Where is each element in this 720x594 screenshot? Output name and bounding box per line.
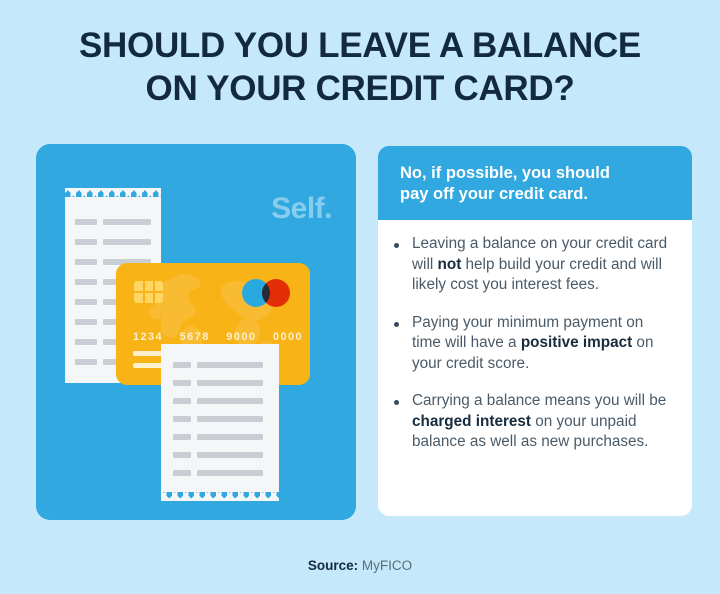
- card-number-group: 0000: [273, 331, 303, 343]
- list-item-text: Leaving a balance on your credit card wi…: [412, 234, 674, 296]
- list-item: Leaving a balance on your credit card wi…: [394, 234, 674, 296]
- self-brand-name: Self.: [271, 192, 332, 225]
- bullet-dot-icon: [394, 313, 412, 375]
- card-chip-icon: [134, 281, 163, 303]
- two-circles-network-logo-icon: [242, 279, 294, 307]
- answer-bullet-list: Leaving a balance on your credit card wi…: [378, 220, 692, 516]
- bullet-dot-icon: [394, 391, 412, 453]
- card-number-group: 9000: [226, 331, 256, 343]
- card-number-group: 1234: [133, 331, 163, 343]
- answer-heading: No, if possible, you should pay off your…: [378, 146, 692, 220]
- bullet-dot-icon: [394, 234, 412, 296]
- list-item: Paying your minimum payment on time will…: [394, 313, 674, 375]
- list-item: Carrying a balance means you will be cha…: [394, 391, 674, 453]
- answer-panel: No, if possible, you should pay off your…: [378, 146, 692, 520]
- receipt-icon-front: [161, 344, 279, 492]
- page-title-line-1: Should you leave a balance: [0, 24, 720, 67]
- list-item-text: Paying your minimum payment on time will…: [412, 313, 674, 375]
- source-name: MyFICO: [362, 558, 412, 573]
- source-attribution: Source: MyFICO: [0, 558, 720, 573]
- card-number: 1234 5678 9000 0000: [133, 331, 303, 343]
- illustration-panel: Self.: [36, 144, 356, 520]
- receipt-zigzag-top: [65, 188, 161, 198]
- source-label: Source:: [308, 558, 358, 573]
- page-title: Should you leave a balance on your credi…: [0, 24, 720, 110]
- card-chip-icon-divider: [153, 281, 155, 303]
- self-brand-logo: Self.: [271, 192, 332, 226]
- receipt-zigzag-bottom: [161, 491, 279, 501]
- page-title-line-2: on your credit card?: [0, 67, 720, 110]
- answer-heading-line-2: pay off your credit card.: [400, 184, 670, 205]
- card-number-group: 5678: [180, 331, 210, 343]
- list-item-text: Carrying a balance means you will be cha…: [412, 391, 674, 453]
- answer-heading-line-1: No, if possible, you should: [400, 163, 670, 184]
